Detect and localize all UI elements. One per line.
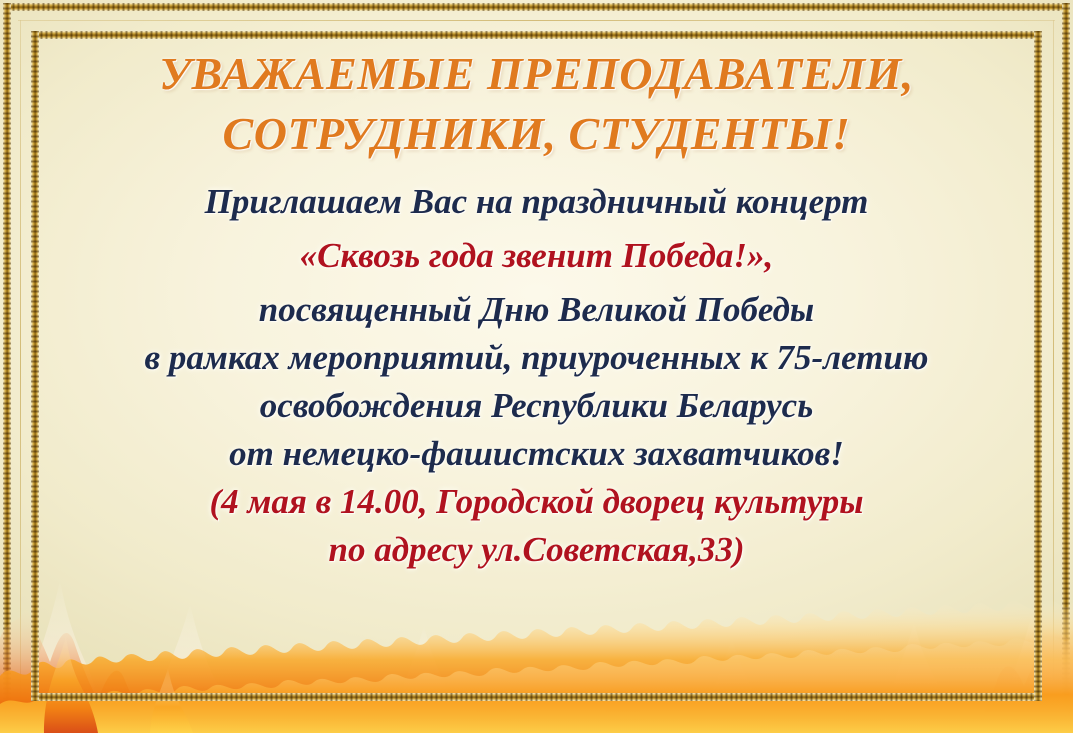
- body-line-address: по адресу ул.Советская,33): [48, 528, 1025, 572]
- body-line-datetime-venue: (4 мая в 14.00, Городской дворец культур…: [48, 480, 1025, 524]
- frame-outer-left: [3, 3, 11, 728]
- body-line-invaders: от немецко-фашистских захватчиков!: [48, 432, 1025, 476]
- frame-hairline-left: [20, 20, 21, 711]
- frame-inner-top: [31, 31, 1042, 39]
- frame-outer-top: [3, 3, 1070, 11]
- invitation-body: Приглашаем Вас на праздничный концерт «С…: [48, 180, 1025, 573]
- frame-outer-bottom: [3, 720, 1070, 728]
- frame-hairline-right: [1053, 20, 1054, 711]
- body-line-dedication: посвященный Дню Великой Победы: [48, 288, 1025, 332]
- poster: УВАЖАЕМЫЕ ПРЕПОДАВАТЕЛИ, СОТРУДНИКИ, СТУ…: [0, 0, 1073, 733]
- frame-outer-right: [1062, 3, 1070, 728]
- body-line-invitation: Приглашаем Вас на праздничный концерт: [48, 180, 1025, 224]
- poster-content: УВАЖАЕМЫЕ ПРЕПОДАВАТЕЛИ, СОТРУДНИКИ, СТУ…: [48, 44, 1025, 572]
- frame-inner-left: [31, 31, 39, 701]
- frame-inner-right: [1034, 31, 1042, 701]
- headline-line-1: УВАЖАЕМЫЕ ПРЕПОДАВАТЕЛИ,: [48, 44, 1025, 104]
- frame-inner-bottom: [31, 693, 1042, 701]
- body-line-liberation: освобождения Республики Беларусь: [48, 384, 1025, 428]
- frame-hairline-top: [18, 20, 1055, 21]
- page-title: УВАЖАЕМЫЕ ПРЕПОДАВАТЕЛИ, СОТРУДНИКИ, СТУ…: [48, 44, 1025, 164]
- frame-hairline-bottom: [18, 710, 1055, 711]
- headline-line-2: СОТРУДНИКИ, СТУДЕНТЫ!: [48, 104, 1025, 164]
- body-line-concert-title: «Сквозь года звенит Победа!»,: [48, 234, 1025, 278]
- body-line-anniversary: в рамках мероприятий, приуроченных к 75-…: [48, 336, 1025, 380]
